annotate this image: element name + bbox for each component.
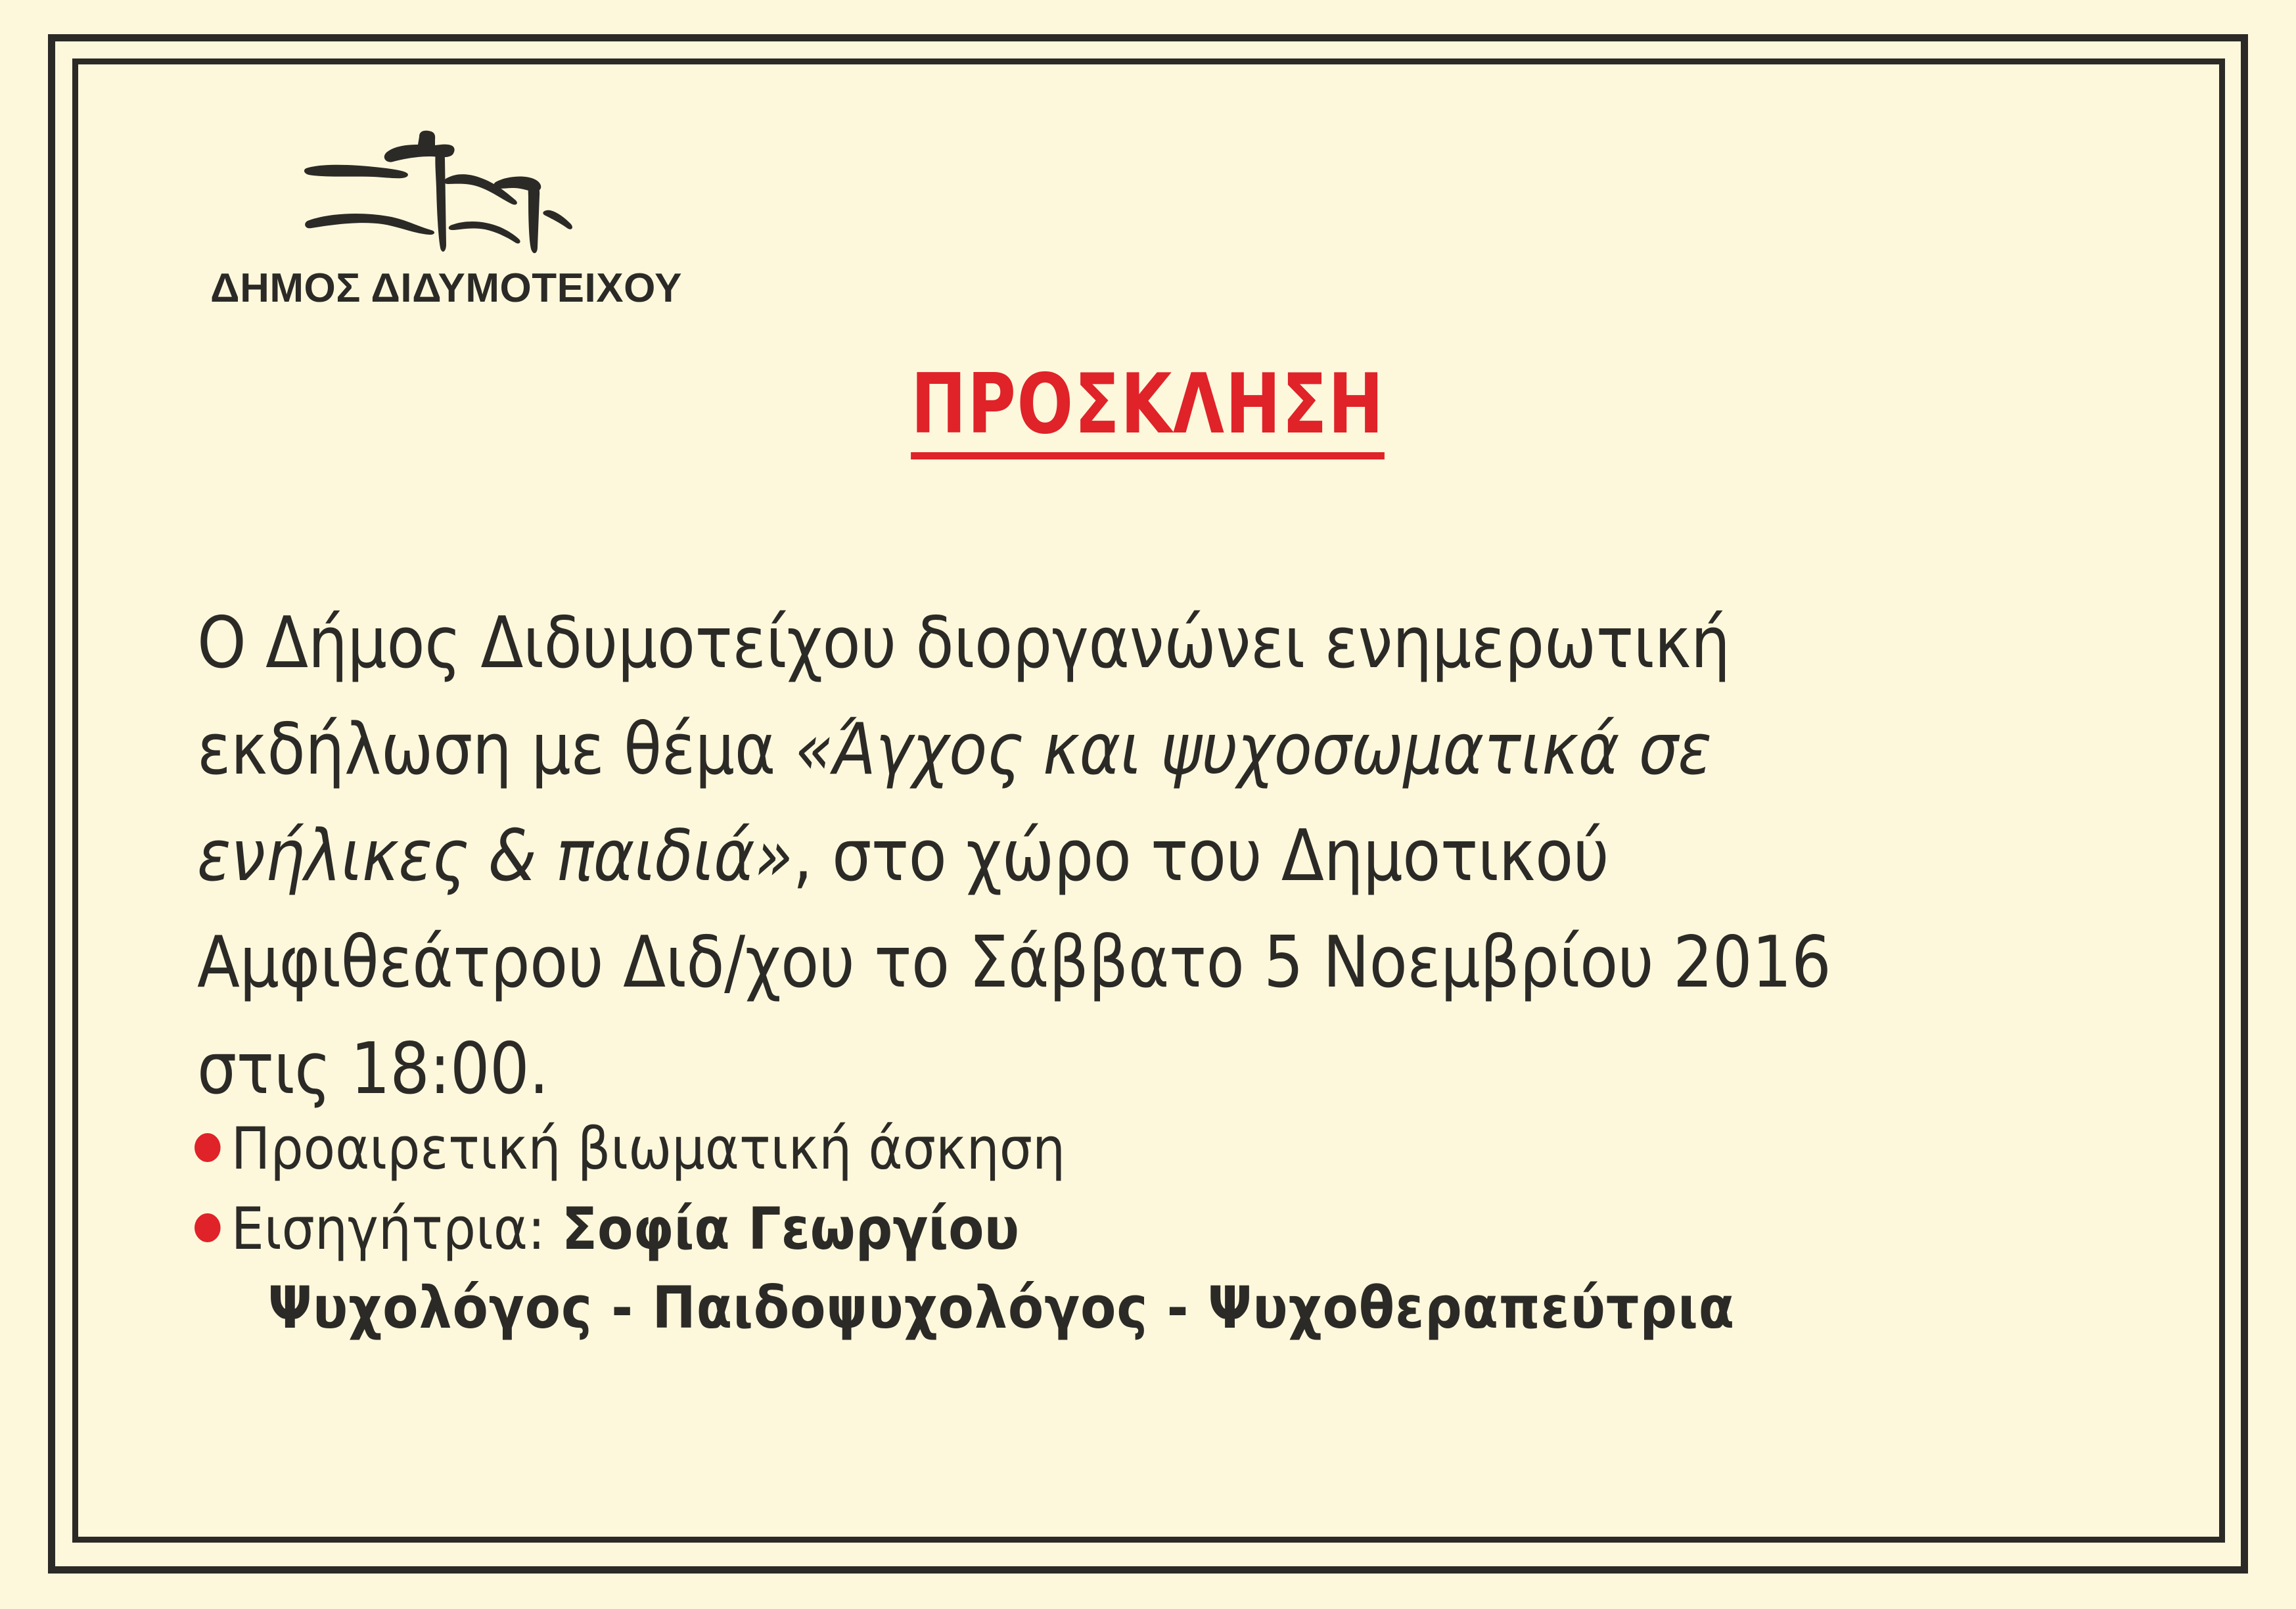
announcement-paragraph: Ο Δήμος Διδυμοτείχου διοργανώνει ενημερω… <box>197 590 1967 1123</box>
bullet-dot-icon <box>195 1133 221 1162</box>
notes-list: Προαιρετική βιωματική άσκηση Εισηγήτρια:… <box>195 1111 2004 1350</box>
speaker-credentials: Ψυχολόγος - Παιδοψυχολόγος - Ψυχοθεραπεύ… <box>268 1270 2004 1346</box>
invitation-poster: ΔΗΜΟΣ ΔΙΔΥΜΟΤΕΙΧΟΥ ΠΡΟΣΚΛΗΣΗ Ο Δήμος Διδ… <box>0 0 2296 1609</box>
municipality-logo: ΔΗΜΟΣ ΔΙΔΥΜΟΤΕΙΧΟΥ <box>210 125 697 309</box>
logo-caption: ΔΗΜΟΣ ΔΙΔΥΜΟΤΕΙΧΟΥ <box>210 268 697 309</box>
speaker-label: Εισηγήτρια: <box>231 1195 562 1263</box>
bullet-dot-icon <box>195 1213 221 1242</box>
speaker-name: Σοφία Γεωργίου <box>562 1195 1019 1263</box>
speaker-info: Εισηγήτρια: Σοφία ΓεωργίουΨυχολόγος - Πα… <box>231 1191 2004 1346</box>
list-item: Εισηγήτρια: Σοφία ΓεωργίουΨυχολόγος - Πα… <box>195 1191 2004 1346</box>
page-title: ΠΡΟΣΚΛΗΣΗ <box>911 360 1385 459</box>
castle-icon <box>302 125 585 263</box>
title-container: ΠΡΟΣΚΛΗΣΗ <box>0 360 2296 459</box>
list-item: Προαιρετική βιωματική άσκηση <box>195 1111 2004 1187</box>
optional-exercise-note: Προαιρετική βιωματική άσκηση <box>231 1111 2004 1187</box>
